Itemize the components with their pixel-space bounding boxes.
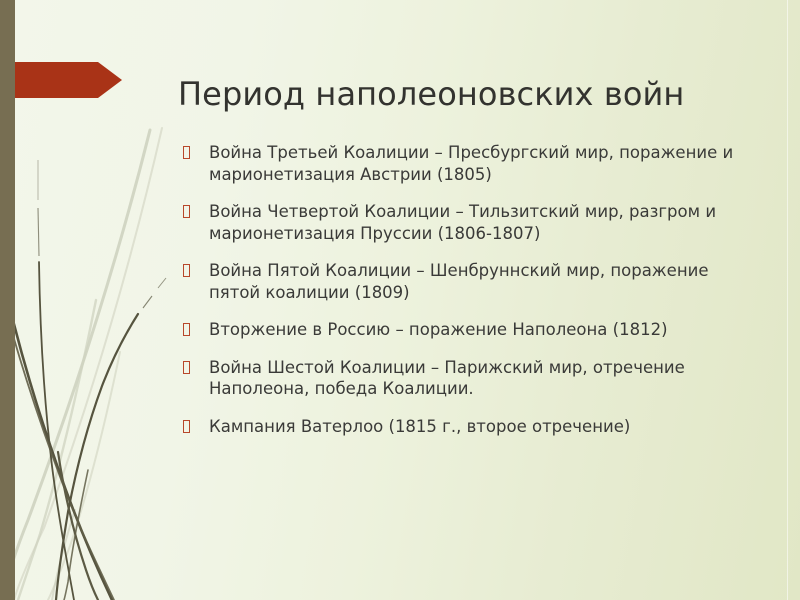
list-item: Война Четвертой Коалиции – Тильзитский м… xyxy=(180,201,760,244)
list-item-label: Вторжение в Россию – поражение Наполеона… xyxy=(209,319,760,341)
list-item-label: Кампания Ватерлоо (1815 г., второе отреч… xyxy=(209,416,760,438)
presentation-slide: Период наполеоновских войн Война Третьей… xyxy=(0,0,800,600)
olive-vertical-band xyxy=(0,0,15,600)
list-item: Война Пятой Коалиции – Шенбруннский мир,… xyxy=(180,260,760,303)
red-right-arrow-banner xyxy=(0,62,122,98)
hollow-box-bullet-icon xyxy=(183,420,190,433)
list-item: Война Шестой Коалиции – Парижский мир, о… xyxy=(180,357,760,400)
list-item-label: Война Пятой Коалиции – Шенбруннский мир,… xyxy=(209,260,760,303)
list-item: Война Третьей Коалиции – Пресбургский ми… xyxy=(180,142,760,185)
list-item-label: Война Шестой Коалиции – Парижский мир, о… xyxy=(209,357,760,400)
hollow-box-bullet-icon xyxy=(183,205,190,218)
hollow-box-bullet-icon xyxy=(183,264,190,277)
list-item: Кампания Ватерлоо (1815 г., второе отреч… xyxy=(180,416,760,438)
page-title: Период наполеоновских войн xyxy=(178,74,778,114)
hollow-box-bullet-icon xyxy=(183,323,190,336)
right-margin-rule xyxy=(787,0,788,600)
list-item-label: Война Четвертой Коалиции – Тильзитский м… xyxy=(209,201,760,244)
hollow-box-bullet-icon xyxy=(183,146,190,159)
list-item-label: Война Третьей Коалиции – Пресбургский ми… xyxy=(209,142,760,185)
hollow-box-bullet-icon xyxy=(183,361,190,374)
list-item: Вторжение в Россию – поражение Наполеона… xyxy=(180,319,760,341)
bullet-list: Война Третьей Коалиции – Пресбургский ми… xyxy=(180,142,760,437)
